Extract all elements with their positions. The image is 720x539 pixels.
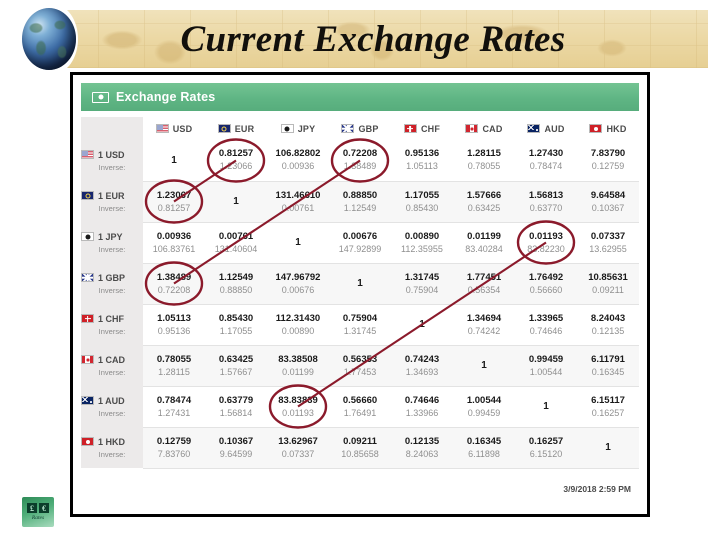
rate-cell-aud-gbp: 0.566601.76491: [329, 386, 391, 427]
rate-inverse-value: 0.95136: [143, 325, 205, 337]
flag-gbp-icon: [81, 273, 94, 282]
column-header-cad: CAD: [453, 117, 515, 140]
rate-value: 0.85430: [205, 313, 267, 325]
rate-cell-jpy-eur: 0.00761131.40604: [205, 222, 267, 263]
rate-inverse-value: 1.27431: [143, 407, 205, 419]
rate-value: 0.63779: [205, 395, 267, 407]
globe-icon: [22, 8, 76, 70]
rate-value: 0.16257: [515, 436, 577, 448]
row-label-gbp: 1 GBPInverse:: [81, 263, 143, 304]
rate-cell-gbp-chf: 1.317450.75904: [391, 263, 453, 304]
rate-identity: 1: [329, 278, 391, 289]
rate-value: 1.34694: [453, 313, 515, 325]
column-code: AUD: [544, 124, 564, 134]
rate-cell-usd-usd: 1: [143, 140, 205, 181]
rate-identity: 1: [453, 360, 515, 371]
rate-cell-gbp-aud: 1.764920.56660: [515, 263, 577, 304]
row-label-usd: 1 USDInverse:: [81, 140, 143, 181]
column-code: CAD: [482, 124, 502, 134]
rate-cell-eur-gbp: 0.888501.12549: [329, 181, 391, 222]
rate-cell-jpy-usd: 0.00936106.83761: [143, 222, 205, 263]
rate-value: 0.01199: [453, 231, 515, 243]
rate-inverse-value: 106.83761: [143, 243, 205, 255]
rate-inverse-value: 0.09211: [577, 284, 639, 296]
rate-inverse-value: 83.82230: [515, 243, 577, 255]
rate-cell-chf-cad: 1.346940.74242: [453, 304, 515, 345]
rate-identity: 1: [205, 196, 267, 207]
flag-aud-icon: [527, 124, 540, 133]
rate-value: 1.77451: [453, 272, 515, 284]
rate-value: 1.33965: [515, 313, 577, 325]
rate-cell-jpy-cad: 0.0119983.40284: [453, 222, 515, 263]
euro-symbol-icon: €: [39, 503, 49, 513]
rate-cell-hkd-hkd: 1: [577, 427, 639, 468]
rate-value: 13.62967: [267, 436, 329, 448]
row-label-chf: 1 CHFInverse:: [81, 304, 143, 345]
rate-value: 9.64584: [577, 190, 639, 202]
rate-value: 0.74243: [391, 354, 453, 366]
rate-cell-gbp-jpy: 147.967920.00676: [267, 263, 329, 304]
flag-jpy-icon: [281, 124, 294, 133]
rate-cell-cad-gbp: 0.563531.77453: [329, 345, 391, 386]
rate-cell-aud-aud: 1: [515, 386, 577, 427]
rate-inverse-value: 0.01199: [267, 366, 329, 378]
rate-value: 1.38489: [143, 272, 205, 284]
rate-cell-usd-aud: 1.274300.78474: [515, 140, 577, 181]
row-label-eur: 1 EURInverse:: [81, 181, 143, 222]
table-row: 1 HKDInverse:0.127597.837600.103679.6459…: [81, 427, 639, 468]
table-row: 1 GBPInverse:1.384890.722081.125490.8885…: [81, 263, 639, 304]
rate-cell-aud-cad: 1.005440.99459: [453, 386, 515, 427]
column-header-aud: AUD: [515, 117, 577, 140]
inverse-label: Inverse:: [81, 204, 143, 213]
rate-inverse-value: 0.00936: [267, 160, 329, 172]
rate-inverse-value: 0.99459: [453, 407, 515, 419]
rate-cell-cad-hkd: 6.117910.16345: [577, 345, 639, 386]
rate-cell-aud-hkd: 6.151170.16257: [577, 386, 639, 427]
row-label-aud: 1 AUDInverse:: [81, 386, 143, 427]
rate-value: 0.00761: [205, 231, 267, 243]
column-code: GBP: [358, 124, 378, 134]
rate-cell-hkd-eur: 0.103679.64599: [205, 427, 267, 468]
rate-cell-jpy-chf: 0.00890112.35955: [391, 222, 453, 263]
flag-cad-icon: [465, 124, 478, 133]
flag-chf-icon: [404, 124, 417, 133]
rate-inverse-value: 1.31745: [329, 325, 391, 337]
row-currency-code: 1 CHF: [98, 314, 124, 324]
rate-inverse-value: 0.74646: [515, 325, 577, 337]
rate-identity: 1: [391, 319, 453, 330]
rate-value: 0.56353: [329, 354, 391, 366]
rate-inverse-value: 0.07337: [267, 448, 329, 460]
rate-value: 0.74646: [391, 395, 453, 407]
column-code: EUR: [235, 124, 255, 134]
rate-value: 83.83839: [267, 395, 329, 407]
inverse-label: Inverse:: [81, 286, 143, 295]
rate-value: 0.16345: [453, 436, 515, 448]
inverse-label: Inverse:: [81, 163, 143, 172]
rate-cell-gbp-hkd: 10.856310.09211: [577, 263, 639, 304]
rate-value: 106.82802: [267, 148, 329, 160]
flag-hkd-icon: [81, 437, 94, 446]
rate-value: 8.24043: [577, 313, 639, 325]
row-label-cad: 1 CADInverse:: [81, 345, 143, 386]
rate-inverse-value: 0.74242: [453, 325, 515, 337]
rate-inverse-value: 0.63425: [453, 202, 515, 214]
rate-cell-chf-hkd: 8.240430.12135: [577, 304, 639, 345]
rate-inverse-value: 0.63770: [515, 202, 577, 214]
rate-value: 0.12135: [391, 436, 453, 448]
row-currency-code: 1 HKD: [98, 437, 125, 447]
row-label-jpy: 1 JPYInverse:: [81, 222, 143, 263]
exchange-rates-panel: Exchange Rates USD EUR JPY: [70, 72, 650, 517]
rate-value: 0.07337: [577, 231, 639, 243]
rate-value: 1.05113: [143, 313, 205, 325]
rate-value: 0.75904: [329, 313, 391, 325]
rate-inverse-value: 1.57667: [205, 366, 267, 378]
rate-inverse-value: 13.62955: [577, 243, 639, 255]
rate-value: 1.56813: [515, 190, 577, 202]
rate-inverse-value: 10.85658: [329, 448, 391, 460]
rate-inverse-value: 0.12135: [577, 325, 639, 337]
rate-cell-eur-eur: 1: [205, 181, 267, 222]
inverse-label: Inverse:: [81, 245, 143, 254]
rate-identity: 1: [267, 237, 329, 248]
rate-cell-jpy-aud: 0.0119383.82230: [515, 222, 577, 263]
rate-inverse-value: 0.01193: [267, 407, 329, 419]
rate-inverse-value: 0.75904: [391, 284, 453, 296]
rate-inverse-value: 1.77453: [329, 366, 391, 378]
rate-cell-cad-cad: 1: [453, 345, 515, 386]
rate-inverse-value: 131.40604: [205, 243, 267, 255]
exchange-rates-table: USD EUR JPY GBP CHF: [81, 117, 639, 469]
rate-value: 0.63425: [205, 354, 267, 366]
flag-usd-icon: [81, 150, 94, 159]
rate-inverse-value: 1.56814: [205, 407, 267, 419]
rate-inverse-value: 1.34693: [391, 366, 453, 378]
panel-header-title: Exchange Rates: [116, 90, 215, 104]
row-currency-code: 1 USD: [98, 150, 125, 160]
row-currency-code: 1 JPY: [98, 232, 123, 242]
rate-inverse-value: 0.56660: [515, 284, 577, 296]
rate-value: 0.81257: [205, 148, 267, 160]
rate-inverse-value: 1.05113: [391, 160, 453, 172]
rate-value: 0.88850: [329, 190, 391, 202]
row-currency-code: 1 AUD: [98, 396, 125, 406]
rate-inverse-value: 1.76491: [329, 407, 391, 419]
rate-cell-usd-jpy: 106.828020.00936: [267, 140, 329, 181]
flag-eur-icon: [81, 191, 94, 200]
row-label-hkd: 1 HKDInverse:: [81, 427, 143, 468]
rate-inverse-value: 0.85430: [391, 202, 453, 214]
rate-cell-chf-jpy: 112.314300.00890: [267, 304, 329, 345]
table-corner-cell: [81, 117, 143, 140]
rate-cell-cad-chf: 0.742431.34693: [391, 345, 453, 386]
rate-value: 0.78055: [143, 354, 205, 366]
rate-cell-hkd-cad: 0.163456.11898: [453, 427, 515, 468]
flag-aud-icon: [81, 396, 94, 405]
rate-inverse-value: 0.78474: [515, 160, 577, 172]
rate-value: 0.72208: [329, 148, 391, 160]
rate-value: 1.31745: [391, 272, 453, 284]
rate-inverse-value: 6.11898: [453, 448, 515, 460]
column-header-chf: CHF: [391, 117, 453, 140]
column-header-gbp: GBP: [329, 117, 391, 140]
rate-cell-aud-eur: 0.637791.56814: [205, 386, 267, 427]
rate-cell-hkd-chf: 0.121358.24063: [391, 427, 453, 468]
column-header-eur: EUR: [205, 117, 267, 140]
rate-cell-eur-chf: 1.170550.85430: [391, 181, 453, 222]
rate-cell-chf-chf: 1: [391, 304, 453, 345]
rate-value: 1.12549: [205, 272, 267, 284]
rate-inverse-value: 1.17055: [205, 325, 267, 337]
rate-inverse-value: 0.12759: [577, 160, 639, 172]
rate-inverse-value: 0.78055: [453, 160, 515, 172]
column-code: JPY: [298, 124, 316, 134]
rate-value: 6.11791: [577, 354, 639, 366]
rate-value: 0.00676: [329, 231, 391, 243]
column-header-usd: USD: [143, 117, 205, 140]
rate-inverse-value: 147.92899: [329, 243, 391, 255]
rate-identity: 1: [143, 155, 205, 166]
rate-cell-usd-cad: 1.281150.78055: [453, 140, 515, 181]
rate-cell-hkd-usd: 0.127597.83760: [143, 427, 205, 468]
rate-inverse-value: 0.16257: [577, 407, 639, 419]
inverse-label: Inverse:: [81, 409, 143, 418]
rate-inverse-value: 6.15120: [515, 448, 577, 460]
rate-value: 1.17055: [391, 190, 453, 202]
rate-cell-chf-usd: 1.051130.95136: [143, 304, 205, 345]
panel-header: Exchange Rates: [81, 83, 639, 111]
row-currency-code: 1 CAD: [98, 355, 125, 365]
inverse-label: Inverse:: [81, 327, 143, 336]
inverse-label: Inverse:: [81, 368, 143, 377]
rate-cell-jpy-hkd: 0.0733713.62955: [577, 222, 639, 263]
rate-inverse-value: 0.81257: [143, 202, 205, 214]
rate-inverse-value: 1.28115: [143, 366, 205, 378]
rate-cell-gbp-eur: 1.125490.88850: [205, 263, 267, 304]
rate-value: 0.10367: [205, 436, 267, 448]
rate-cell-aud-chf: 0.746461.33966: [391, 386, 453, 427]
rate-inverse-value: 0.56354: [453, 284, 515, 296]
rate-cell-eur-jpy: 131.466100.00761: [267, 181, 329, 222]
table-header-row: USD EUR JPY GBP CHF: [81, 117, 639, 140]
rate-value: 0.78474: [143, 395, 205, 407]
column-header-hkd: HKD: [577, 117, 639, 140]
rate-cell-gbp-gbp: 1: [329, 263, 391, 304]
table-row: 1 CHFInverse:1.051130.951360.854301.1705…: [81, 304, 639, 345]
logo-wordmark: Rates: [32, 515, 44, 521]
rate-value: 0.01193: [515, 231, 577, 243]
rate-value: 83.38508: [267, 354, 329, 366]
rate-cell-usd-gbp: 0.722081.38489: [329, 140, 391, 181]
rate-value: 0.12759: [143, 436, 205, 448]
row-currency-code: 1 GBP: [98, 273, 125, 283]
table-row: 1 JPYInverse:0.00936106.837610.00761131.…: [81, 222, 639, 263]
brand-logo: £ € Rates: [22, 497, 54, 527]
rate-inverse-value: 0.72208: [143, 284, 205, 296]
banknote-icon: [92, 92, 109, 103]
inverse-label: Inverse:: [81, 450, 143, 459]
column-header-jpy: JPY: [267, 117, 329, 140]
column-code: CHF: [421, 124, 440, 134]
rate-value: 112.31430: [267, 313, 329, 325]
rate-cell-usd-hkd: 7.837900.12759: [577, 140, 639, 181]
rate-cell-chf-aud: 1.339650.74646: [515, 304, 577, 345]
rate-value: 1.76492: [515, 272, 577, 284]
rate-cell-eur-aud: 1.568130.63770: [515, 181, 577, 222]
rate-value: 0.00936: [143, 231, 205, 243]
rate-cell-eur-hkd: 9.645840.10367: [577, 181, 639, 222]
table-header: USD EUR JPY GBP CHF: [81, 117, 639, 140]
rate-cell-aud-jpy: 83.838390.01193: [267, 386, 329, 427]
rate-inverse-value: 112.35955: [391, 243, 453, 255]
rate-value: 10.85631: [577, 272, 639, 284]
rate-inverse-value: 1.38489: [329, 160, 391, 172]
rate-value: 131.46610: [267, 190, 329, 202]
rate-inverse-value: 1.12549: [329, 202, 391, 214]
column-code: USD: [173, 124, 193, 134]
rate-inverse-value: 0.88850: [205, 284, 267, 296]
flag-eur-icon: [218, 124, 231, 133]
table-row: 1 CADInverse:0.780551.281150.634251.5766…: [81, 345, 639, 386]
table-row: 1 AUDInverse:0.784741.274310.637791.5681…: [81, 386, 639, 427]
page-title: Current Exchange Rates: [52, 10, 694, 68]
table-row: 1 USDInverse:10.812571.23066106.828020.0…: [81, 140, 639, 181]
rate-value: 1.27430: [515, 148, 577, 160]
rate-inverse-value: 0.16345: [577, 366, 639, 378]
rate-cell-chf-eur: 0.854301.17055: [205, 304, 267, 345]
rate-cell-chf-gbp: 0.759041.31745: [329, 304, 391, 345]
rate-cell-gbp-cad: 1.774510.56354: [453, 263, 515, 304]
rate-inverse-value: 0.00676: [267, 284, 329, 296]
rate-value: 1.23067: [143, 190, 205, 202]
rate-cell-gbp-usd: 1.384890.72208: [143, 263, 205, 304]
rate-inverse-value: 1.33966: [391, 407, 453, 419]
rate-identity: 1: [577, 442, 639, 453]
flag-gbp-icon: [341, 124, 354, 133]
rate-value: 0.95136: [391, 148, 453, 160]
rate-cell-hkd-aud: 0.162576.15120: [515, 427, 577, 468]
rate-inverse-value: 7.83760: [143, 448, 205, 460]
rate-cell-cad-usd: 0.780551.28115: [143, 345, 205, 386]
row-currency-code: 1 EUR: [98, 191, 125, 201]
rate-cell-jpy-jpy: 1: [267, 222, 329, 263]
globe-landmass: [22, 8, 76, 70]
flag-jpy-icon: [81, 232, 94, 241]
rate-value: 1.00544: [453, 395, 515, 407]
rate-value: 0.00890: [391, 231, 453, 243]
table-body: 1 USDInverse:10.812571.23066106.828020.0…: [81, 140, 639, 468]
rate-inverse-value: 1.00544: [515, 366, 577, 378]
rate-value: 1.57666: [453, 190, 515, 202]
rate-cell-usd-chf: 0.951361.05113: [391, 140, 453, 181]
rate-identity: 1: [515, 401, 577, 412]
rate-cell-hkd-jpy: 13.629670.07337: [267, 427, 329, 468]
rate-value: 0.09211: [329, 436, 391, 448]
flag-usd-icon: [156, 124, 169, 133]
flag-cad-icon: [81, 355, 94, 364]
rate-inverse-value: 1.23066: [205, 160, 267, 172]
timestamp: 3/9/2018 2:59 PM: [563, 484, 631, 494]
rate-value: 6.15117: [577, 395, 639, 407]
rate-inverse-value: 0.10367: [577, 202, 639, 214]
rate-inverse-value: 0.00890: [267, 325, 329, 337]
rate-value: 0.99459: [515, 354, 577, 366]
rate-value: 0.56660: [329, 395, 391, 407]
rate-cell-cad-eur: 0.634251.57667: [205, 345, 267, 386]
flag-hkd-icon: [589, 124, 602, 133]
column-code: HKD: [606, 124, 626, 134]
title-banner: Current Exchange Rates: [52, 10, 708, 68]
rate-value: 147.96792: [267, 272, 329, 284]
flag-chf-icon: [81, 314, 94, 323]
rate-inverse-value: 83.40284: [453, 243, 515, 255]
rate-value: 1.28115: [453, 148, 515, 160]
rate-inverse-value: 8.24063: [391, 448, 453, 460]
rate-cell-cad-jpy: 83.385080.01199: [267, 345, 329, 386]
rate-cell-aud-usd: 0.784741.27431: [143, 386, 205, 427]
rate-cell-usd-eur: 0.812571.23066: [205, 140, 267, 181]
rate-cell-cad-aud: 0.994591.00544: [515, 345, 577, 386]
rate-cell-hkd-gbp: 0.0921110.85658: [329, 427, 391, 468]
rate-cell-eur-cad: 1.576660.63425: [453, 181, 515, 222]
rate-inverse-value: 0.00761: [267, 202, 329, 214]
rate-inverse-value: 9.64599: [205, 448, 267, 460]
rate-cell-eur-usd: 1.230670.81257: [143, 181, 205, 222]
rate-cell-jpy-gbp: 0.00676147.92899: [329, 222, 391, 263]
pound-symbol-icon: £: [27, 503, 37, 513]
rate-value: 7.83790: [577, 148, 639, 160]
table-row: 1 EURInverse:1.230670.812571131.466100.0…: [81, 181, 639, 222]
